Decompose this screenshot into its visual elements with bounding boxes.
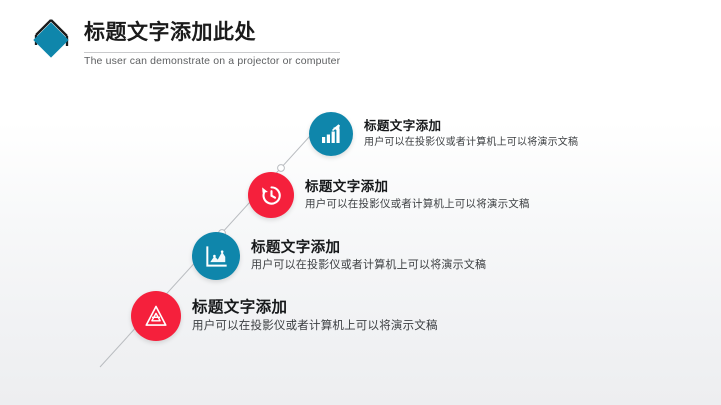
list-item-description: 用户可以在投影仪或者计算机上可以将演示文稿: [192, 320, 438, 334]
list-item-description: 用户可以在投影仪或者计算机上可以将演示文稿: [305, 198, 530, 211]
list-item[interactable]: 标题文字添加 用户可以在投影仪或者计算机上可以将演示文稿: [309, 112, 578, 156]
list-item-text: 标题文字添加 用户可以在投影仪或者计算机上可以将演示文稿: [192, 299, 438, 334]
slide-canvas: 标题文字添加此处 The user can demonstrate on a p…: [0, 0, 721, 405]
list-item-title: 标题文字添加: [192, 299, 438, 317]
list-item-description: 用户可以在投影仪或者计算机上可以将演示文稿: [364, 137, 578, 149]
bar-chart-growth-icon: [309, 112, 353, 156]
header-divider: [84, 52, 340, 53]
list-item-text: 标题文字添加 用户可以在投影仪或者计算机上可以将演示文稿: [251, 240, 486, 273]
history-clock-icon: [248, 172, 294, 218]
list-item-text: 标题文字添加 用户可以在投影仪或者计算机上可以将演示文稿: [305, 179, 530, 210]
slide-header: 标题文字添加此处 The user can demonstrate on a p…: [0, 0, 721, 92]
staircase-diagram: 标题文字添加 用户可以在投影仪或者计算机上可以将演示文稿 标题文字添加 用户可以…: [0, 92, 721, 405]
list-item[interactable]: 标题文字添加 用户可以在投影仪或者计算机上可以将演示文稿: [192, 232, 486, 280]
list-item-title: 标题文字添加: [251, 240, 486, 257]
page-title: 标题文字添加此处: [84, 22, 256, 43]
list-item-title: 标题文字添加: [305, 179, 530, 195]
list-item[interactable]: 标题文字添加 用户可以在投影仪或者计算机上可以将演示文稿: [131, 291, 438, 341]
pyramid-layers-icon: [131, 291, 181, 341]
list-item-title: 标题文字添加: [364, 119, 578, 133]
area-chart-icon: [192, 232, 240, 280]
list-item-description: 用户可以在投影仪或者计算机上可以将演示文稿: [251, 259, 486, 272]
list-item[interactable]: 标题文字添加 用户可以在投影仪或者计算机上可以将演示文稿: [248, 172, 530, 218]
list-item-text: 标题文字添加 用户可以在投影仪或者计算机上可以将演示文稿: [364, 119, 578, 148]
diamond-logo-icon: [27, 16, 75, 64]
page-subtitle: The user can demonstrate on a projector …: [84, 55, 340, 67]
